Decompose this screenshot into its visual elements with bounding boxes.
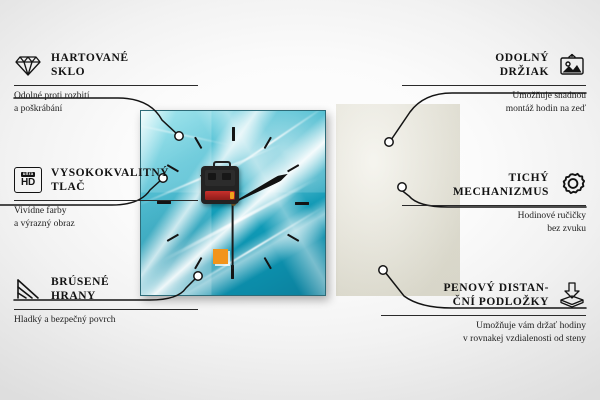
diamond-icon [14,51,42,79]
feature-divider [14,309,198,310]
ultra-hd-icon: ultra HD [14,166,42,194]
feature-divider [381,315,586,316]
ground-edges-icon [14,275,42,303]
feature-ground-edges: BRÚSENÉ HRANY Hladký a bezpečný povrch [14,272,198,327]
feature-heading: ODOLNÝ DRŽIAK [402,48,586,82]
gear-icon [558,171,586,199]
feature-title: PENOVÝ DISTAN- ČNÍ PODLOŽKY [443,281,549,310]
mechanism-plate [205,170,235,186]
feature-subtitle: Umožňuje vám držať hodiny v rovnakej vzd… [381,320,586,345]
feature-tempered-glass: HARTOVANÉ SKLO Odolné proti rozbití a po… [14,48,198,115]
feature-title: TICHÝ MECHANIZMUS [453,171,549,200]
feature-subtitle: Hladký a bezpečný povrch [14,314,198,327]
foam-spacer-pad [213,249,228,264]
feature-divider [14,200,198,201]
feature-title: VYSOKOKVALITNÝ TLAČ [51,166,169,195]
feature-durable-hanger: ODOLNÝ DRŽIAK Umožňuje snadnou montáž ho… [402,48,586,115]
feature-subtitle: Umožňuje snadnou montáž hodin na zeď [402,90,586,115]
clock-tick [233,202,309,204]
feature-heading: ultra HD VYSOKOKVALITNÝ TLAČ [14,163,198,197]
feature-heading: PENOVÝ DISTAN- ČNÍ PODLOŽKY [381,278,586,312]
foam-pad-icon [558,281,586,309]
feature-subtitle: Hodinové ručičky bez zvuku [402,210,586,235]
feature-heading: HARTOVANÉ SKLO [14,48,198,82]
clock-mechanism [201,166,239,204]
feature-foam-spacers: PENOVÝ DISTAN- ČNÍ PODLOŽKY Umožňuje vám… [381,278,586,345]
feature-title: BRÚSENÉ HRANY [51,275,109,304]
feature-subtitle: Vivídne farby a výrazný obraz [14,205,198,230]
picture-frame-icon [558,51,586,79]
infographic-canvas: HARTOVANÉ SKLO Odolné proti rozbití a po… [0,0,600,400]
feature-divider [402,205,586,206]
feature-silent-mechanism: TICHÝ MECHANIZMUS Hodinové ručičky bez z… [402,168,586,235]
feature-title: ODOLNÝ DRŽIAK [495,51,549,80]
battery [205,191,235,200]
feature-title: HARTOVANÉ SKLO [51,51,129,80]
feature-heading: TICHÝ MECHANIZMUS [402,168,586,202]
feature-divider [402,85,586,86]
second-hand [232,203,234,269]
feature-heading: BRÚSENÉ HRANY [14,272,198,306]
feature-divider [14,85,198,86]
feature-subtitle: Odolné proti rozbití a poškrábání [14,90,198,115]
feature-high-quality-print: ultra HD VYSOKOKVALITNÝ TLAČ Vivídne far… [14,163,198,230]
